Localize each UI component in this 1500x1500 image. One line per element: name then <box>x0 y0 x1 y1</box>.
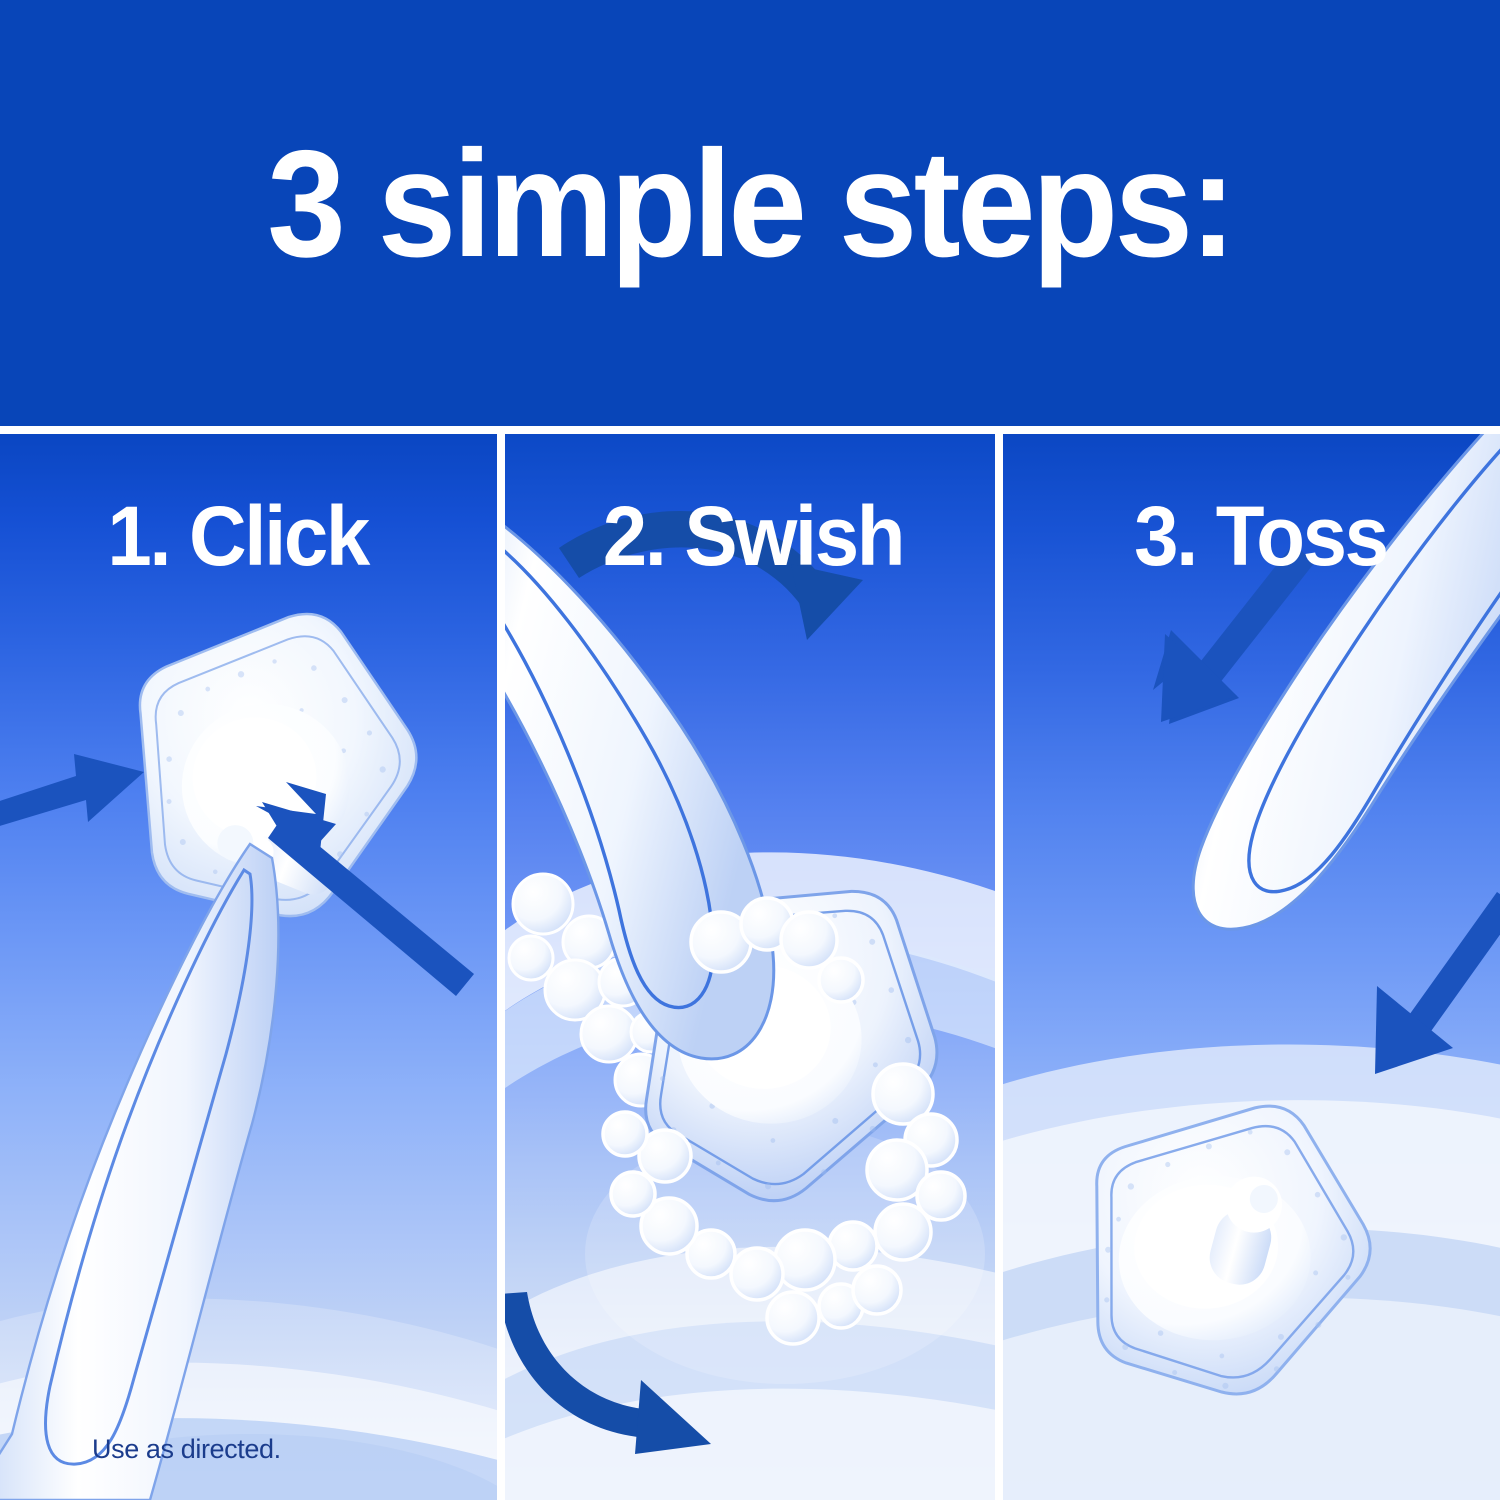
step-heading-2: 2. Swish <box>517 494 983 578</box>
arrow-left-to-puck <box>0 754 144 838</box>
step-heading-3: 3. Toss <box>1015 494 1487 578</box>
swish-illustration <box>505 434 995 1500</box>
footnote-use-as-directed: Use as directed. <box>92 1434 281 1465</box>
step-panel-swish: 2. Swish <box>505 434 995 1500</box>
panel-divider-2 <box>995 434 1003 1500</box>
arrow-down-left-lower <box>1375 892 1500 1074</box>
page-title: 3 simple steps: <box>53 128 1448 280</box>
click-illustration <box>0 434 497 1500</box>
infographic-root: 3 simple steps: <box>0 0 1500 1500</box>
step-heading-1: 1. Click <box>12 494 484 578</box>
step-panel-toss: 3. Toss <box>1003 434 1500 1500</box>
steps-row: 1. Click <box>0 434 1500 1500</box>
panel-divider-1 <box>497 434 505 1500</box>
toss-illustration <box>1003 434 1500 1500</box>
header-divider <box>0 426 1500 434</box>
step-panel-click: 1. Click <box>0 434 497 1500</box>
header-banner: 3 simple steps: <box>0 0 1500 426</box>
